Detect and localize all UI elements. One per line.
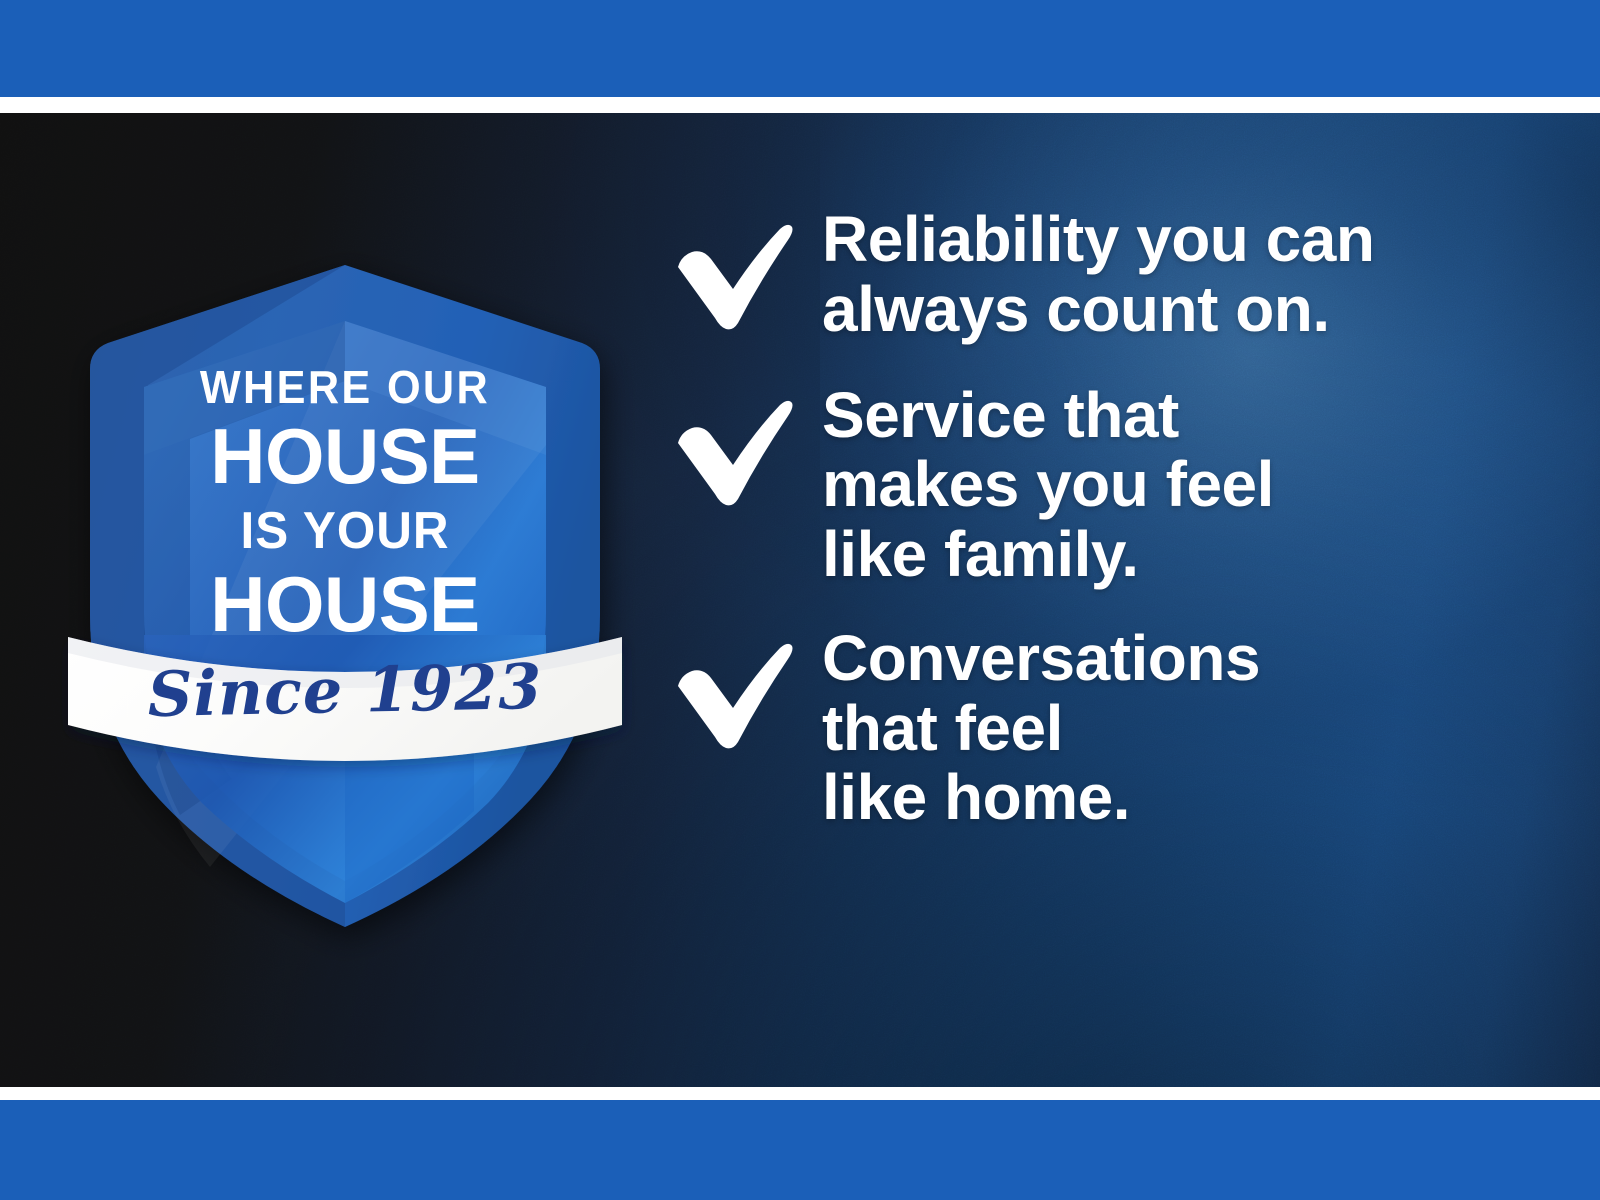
shield-badge: Where Our House Is Your House Since 1923 [60, 255, 630, 935]
bottom-brand-bar [0, 1100, 1600, 1200]
list-item-text: Reliability you can always count on. [822, 205, 1572, 345]
list-item-text: Service that makes you feel like family. [822, 381, 1572, 590]
list-item: Reliability you can always count on. [672, 205, 1572, 345]
benefits-list: Reliability you can always count on. Ser… [672, 205, 1572, 833]
list-item: Conversations that feel like home. [672, 624, 1572, 833]
badge-line-2: House [66, 417, 625, 495]
badge-line-3: Is Your [74, 505, 616, 557]
badge-line-4: House [66, 565, 625, 643]
check-icon [672, 205, 822, 331]
badge-line-1: Where Our [77, 364, 613, 410]
check-icon [672, 381, 822, 507]
promo-graphic: Where Our House Is Your House Since 1923… [0, 0, 1600, 1200]
list-item-text: Conversations that feel like home. [822, 624, 1572, 833]
top-brand-bar [0, 0, 1600, 97]
list-item: Service that makes you feel like family. [672, 381, 1572, 590]
check-icon [672, 624, 822, 750]
badge-since-year: Since 1923 [59, 654, 630, 728]
